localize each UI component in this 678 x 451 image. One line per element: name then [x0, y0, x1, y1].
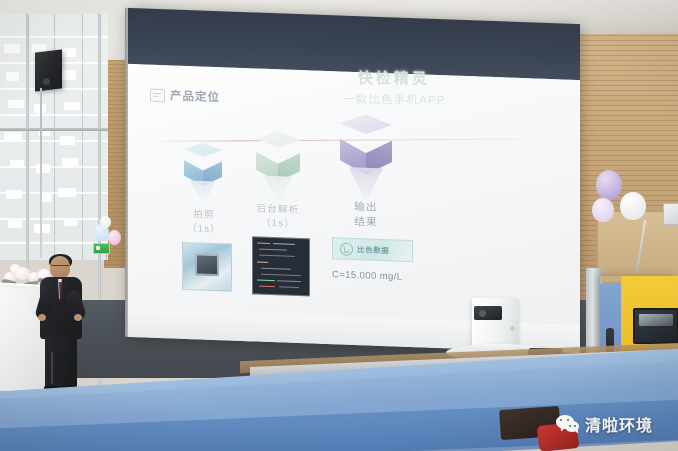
- concentration-readout: C=15.000 mg/L: [332, 269, 402, 283]
- step-2-code-thumbnail: [252, 236, 310, 296]
- step-2-gem-icon: [256, 130, 300, 204]
- presenter-legs: [45, 336, 77, 388]
- step-3-label-line2: 结果: [334, 215, 398, 233]
- cabinet-display-screen[interactable]: [633, 308, 678, 344]
- photo-canvas: 产品定位 快检精灵 一款比色手机APP 拍照 （1s）: [0, 0, 678, 451]
- projector-knob: [510, 326, 515, 331]
- list-icon: [150, 88, 165, 102]
- presenter-glasses: [51, 265, 69, 270]
- exit-sign: [93, 243, 110, 254]
- watermark-account-name: 清啦环境: [585, 412, 653, 436]
- slide-title: 快检精灵: [303, 67, 484, 89]
- presenter-leg-gap: [51, 352, 53, 384]
- slide-title-block: 快检精灵 一款比色手机APP: [303, 67, 484, 108]
- result-card: 比色数据: [332, 237, 413, 262]
- projector-lens-icon: [474, 306, 502, 320]
- window-rail: [0, 128, 108, 131]
- presenter: [36, 256, 86, 392]
- step-3-label: 输出 结果: [334, 199, 398, 232]
- presenter-right-hand: [74, 314, 82, 321]
- presenter-left-hand: [38, 314, 46, 321]
- result-card-label: 比色数据: [357, 244, 389, 256]
- step-1-label: 拍照 （1s）: [174, 208, 234, 238]
- wechat-icon: [556, 415, 580, 434]
- balloon-white-small: [100, 216, 111, 228]
- slide-surface: 产品定位 快检精灵 一款比色手机APP 拍照 （1s）: [128, 64, 580, 325]
- balloon-white-right: [620, 192, 646, 220]
- step-1-photo-thumbnail: [182, 242, 232, 292]
- balloon-lavender: [592, 198, 614, 222]
- step-1-gem-icon: [184, 142, 222, 205]
- speaker-pole: [40, 88, 42, 258]
- step-2-label: 后台解析 （1s）: [240, 202, 316, 232]
- slide-section-tag: 产品定位: [150, 87, 220, 106]
- wall-device: [663, 203, 678, 225]
- slide-section-label: 产品定位: [170, 87, 220, 105]
- speaker-driver: [43, 78, 50, 85]
- balloon-purple: [596, 170, 622, 200]
- step-2-label-line2: （1s）: [240, 216, 316, 232]
- result-logo-icon: [340, 242, 353, 255]
- step-3-gem-icon: [340, 113, 392, 201]
- ceiling-speaker: [35, 49, 62, 91]
- watermark: 清啦环境: [556, 412, 653, 436]
- step-1-label-line2: （1s）: [174, 221, 234, 237]
- slide-subtitle: 一款比色手机APP: [304, 91, 484, 108]
